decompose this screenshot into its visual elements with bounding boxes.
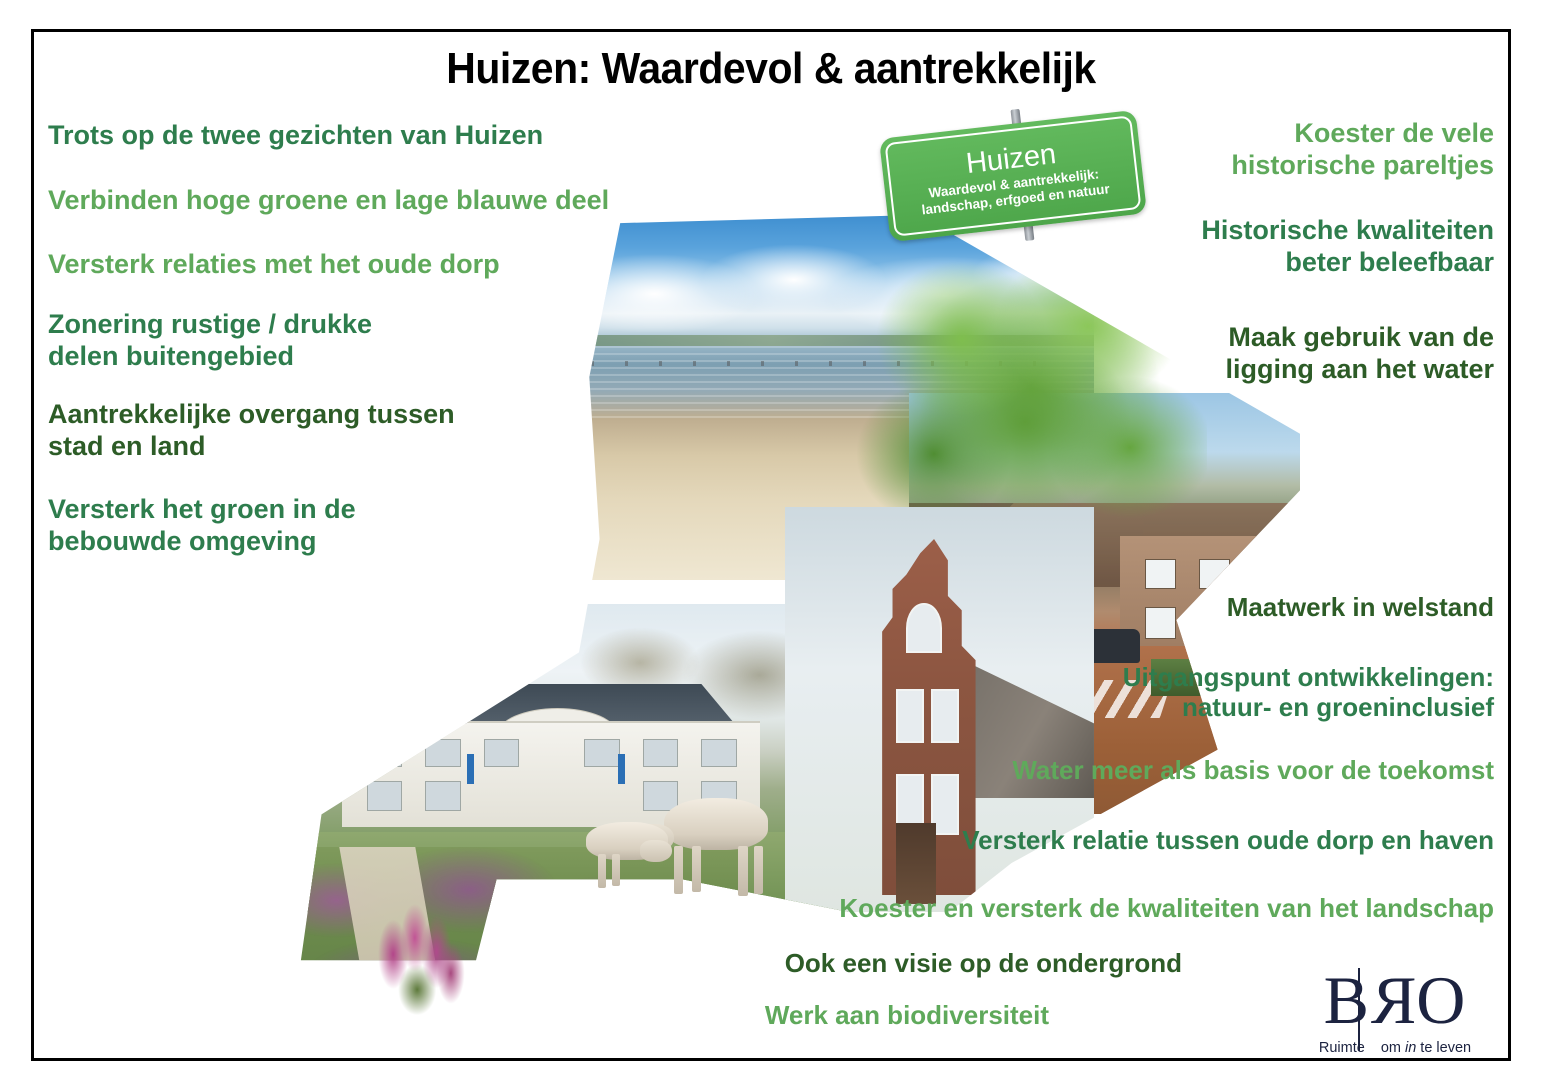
poster-canvas: Huizen: Waardevol & aantrekkelijk [0,0,1542,1092]
statement-uitgangspunt-ontwikkelingen: Uitgangspunt ontwikkelingen: natuur- en … [1123,662,1494,723]
front-door [896,823,936,904]
window [931,689,959,743]
statement-maatwerk-in-welstand: Maatwerk in welstand [1227,592,1494,622]
page-title: Huizen: Waardevol & aantrekkelijk [54,44,1488,94]
heather-bush-foreground [362,900,482,1018]
statement-historische-kwaliteiten: Historische kwaliteiten beter beleefbaar [1201,215,1494,278]
statement-verbinden-groene-blauwe-deel: Verbinden hoge groene en lage blauwe dee… [48,185,609,217]
window [701,739,736,766]
statement-zonering-buitengebied: Zonering rustige / drukke delen buitenge… [48,309,372,372]
logo-letter-o: O [1416,966,1466,1034]
cow-leg [738,846,748,896]
window [906,603,941,653]
window [484,739,519,766]
blue-banner [467,754,474,784]
window [643,739,678,766]
window [425,781,460,810]
window [584,739,619,766]
window [367,781,402,810]
statement-overgang-stad-en-land: Aantrekkelijke overgang tussen stad en l… [48,399,455,462]
cow-head [640,840,672,862]
logo-tagline-divider [1358,1031,1360,1051]
statement-visie-op-ondergrond: Ook een visie op de ondergrond [785,948,1182,978]
statement-versterk-groen-bebouwde: Versterk het groen in de bebouwde omgevi… [48,494,356,557]
window [1253,559,1284,589]
cow-leg [674,846,683,894]
logo-letter-r-mirrored: R [1370,966,1416,1034]
statement-kwaliteiten-landschap: Koester en versterk de kwaliteiten van h… [839,893,1494,923]
statement-relatie-oude-dorp-haven: Versterk relatie tussen oude dorp en hav… [962,825,1494,855]
statement-versterk-relaties-oude-dorp: Versterk relaties met het oude dorp [48,249,500,281]
logo-lettermark: B R O [1292,966,1498,1034]
logo-divider [1358,968,1360,1034]
statement-ligging-aan-het-water: Maak gebruik van de ligging aan het wate… [1225,322,1494,385]
window [425,739,460,766]
cow-body [664,798,768,850]
logo-letter-b: B [1324,966,1370,1034]
window [367,739,402,766]
cow-leg [612,854,620,886]
blue-banner [618,754,625,784]
statement-trots-op-twee-gezichten: Trots op de twee gezichten van Huizen [48,120,543,152]
statement-werk-aan-biodiversiteit: Werk aan biodiversiteit [765,1000,1049,1030]
grazing-cows-photo [578,790,808,900]
cow-leg [754,846,763,894]
cow-leg [598,854,606,888]
cow-leg [692,846,701,892]
window [896,689,924,743]
logo-tagline: Ruimte om in te leven [1292,1040,1498,1056]
statement-koester-historische-pareltjes: Koester de vele historische pareltjes [1231,118,1494,181]
bro-logo: B R O Ruimte om in te leven [1292,966,1498,1052]
window [1199,607,1230,639]
statement-water-basis-toekomst: Water meer als basis voor de toekomst [1012,755,1494,785]
logo-tagline-right: om in te leven [1381,1040,1471,1056]
